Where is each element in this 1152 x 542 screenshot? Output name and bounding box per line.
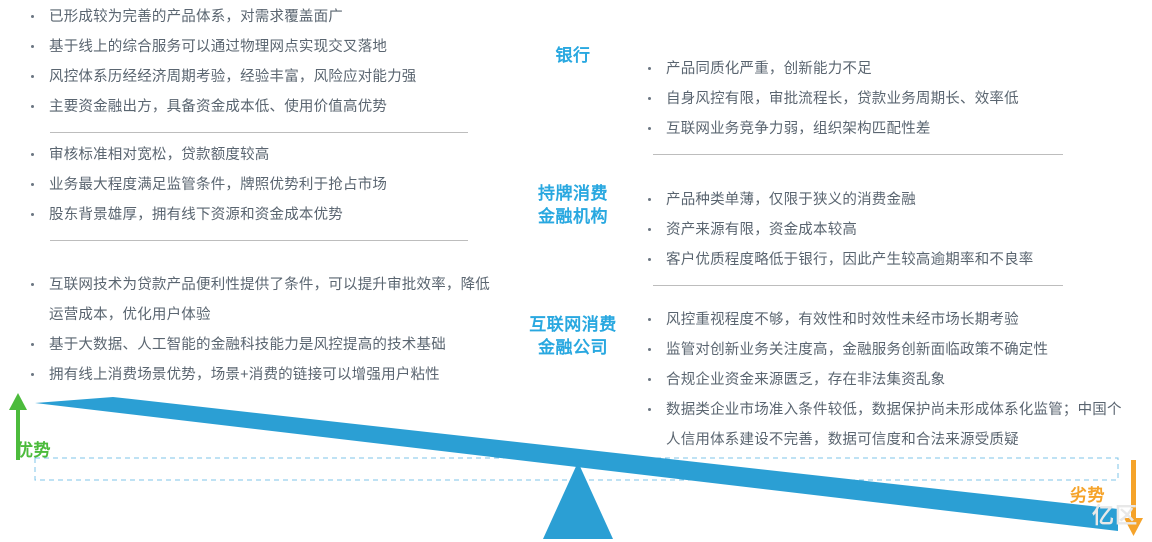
bullet-dot-icon bbox=[648, 127, 651, 130]
category-label-bank: 银行 bbox=[508, 44, 638, 67]
bullet-dot-icon bbox=[31, 15, 34, 18]
disadvantage-list-bank: 产品同质化严重，创新能力不足 自身风控有限，审批流程长，贷款业务周期长、效率低 … bbox=[645, 54, 1115, 144]
bullet-dot-icon bbox=[648, 258, 651, 261]
bullet-dot-icon bbox=[31, 153, 34, 156]
list-item-text: 客户优质程度略低于银行，因此产生较高逾期率和不良率 bbox=[666, 252, 1034, 268]
list-item: 合规企业资金来源匮乏，存在非法集资乱象 bbox=[645, 365, 1115, 395]
list-item-text: 拥有线上消费场景优势，场景+消费的链接可以增强用户粘性 bbox=[49, 367, 440, 383]
category-label-licensed-consumer-finance: 持牌消费 金融机构 bbox=[508, 182, 638, 228]
list-item: 已形成较为完善的产品体系，对需求覆盖面广 bbox=[28, 2, 480, 32]
disadvantage-list-licensed-consumer-finance: 产品种类单薄，仅限于狭义的消费金融 资产来源有限，资金成本较高 客户优质程度略低… bbox=[645, 185, 1115, 275]
disadvantages-block-bank: 产品同质化严重，创新能力不足 自身风控有限，审批流程长，贷款业务周期长、效率低 … bbox=[645, 54, 1115, 155]
list-item-text: 风控体系历经经济周期考验，经验丰富，风险应对能力强 bbox=[49, 69, 417, 85]
list-item-text: 股东背景雄厚，拥有线下资源和资金成本优势 bbox=[49, 207, 343, 223]
list-item: 数据类企业市场准入条件较低，数据保护尚未形成体系化监管；中国个人信用体系建设不完… bbox=[645, 395, 1128, 455]
slide-canvas: 银行 持牌消费 金融机构 互联网消费 金融公司 已形成较为完善的产品体系，对需求… bbox=[0, 0, 1152, 542]
section-divider bbox=[50, 240, 468, 241]
list-item: 股东背景雄厚，拥有线下资源和资金成本优势 bbox=[28, 200, 480, 230]
list-item: 客户优质程度略低于银行，因此产生较高逾期率和不良率 bbox=[645, 245, 1115, 275]
bullet-dot-icon bbox=[648, 378, 651, 381]
advantages-block-internet-consumer-finance: 互联网技术为贷款产品便利性提供了条件，可以提升审批效率，降低运营成本，优化用户体… bbox=[28, 270, 480, 390]
bullet-dot-icon bbox=[31, 373, 34, 376]
bullet-dot-icon bbox=[648, 97, 651, 100]
bullet-dot-icon bbox=[31, 213, 34, 216]
category-label-line1: 互联网消费 bbox=[508, 313, 638, 336]
list-item-text: 数据类企业市场准入条件较低，数据保护尚未形成体系化监管；中国个人信用体系建设不完… bbox=[666, 402, 1122, 448]
dashed-reference-box bbox=[35, 458, 1118, 480]
list-item-text: 资产来源有限，资金成本较高 bbox=[666, 222, 857, 238]
list-item: 业务最大程度满足监管条件，牌照优势利于抢占市场 bbox=[28, 170, 480, 200]
bullet-dot-icon bbox=[648, 198, 651, 201]
bullet-dot-icon bbox=[648, 228, 651, 231]
list-item: 监管对创新业务关注度高，金融服务创新面临政策不确定性 bbox=[645, 335, 1115, 365]
list-item: 资产来源有限，资金成本较高 bbox=[645, 215, 1115, 245]
list-item-text: 自身风控有限，审批流程长，贷款业务周期长、效率低 bbox=[666, 91, 1019, 107]
watermark-text: 亿区 bbox=[1092, 498, 1138, 530]
list-item-text: 审核标准相对宽松，贷款额度较高 bbox=[49, 147, 270, 163]
list-item: 主要资金融出方，具备资金成本低、使用价值高优势 bbox=[28, 92, 480, 122]
disadvantages-block-internet-consumer-finance: 风控重视程度不够，有效性和时效性未经市场长期考验 监管对创新业务关注度高，金融服… bbox=[645, 305, 1115, 455]
list-item: 产品同质化严重，创新能力不足 bbox=[645, 54, 1115, 84]
list-item: 互联网业务竞争力弱，组织架构匹配性差 bbox=[645, 114, 1115, 144]
advantages-block-bank: 已形成较为完善的产品体系，对需求覆盖面广 基于线上的综合服务可以通过物理网点实现… bbox=[28, 2, 480, 133]
list-item: 基于线上的综合服务可以通过物理网点实现交叉落地 bbox=[28, 32, 480, 62]
list-item-text: 基于大数据、人工智能的金融科技能力是风控提高的技术基础 bbox=[49, 337, 446, 353]
section-divider bbox=[653, 154, 1063, 155]
list-item: 互联网技术为贷款产品便利性提供了条件，可以提升审批效率，降低运营成本，优化用户体… bbox=[28, 270, 504, 330]
advantages-block-licensed-consumer-finance: 审核标准相对宽松，贷款额度较高 业务最大程度满足监管条件，牌照优势利于抢占市场 … bbox=[28, 140, 480, 241]
advantage-axis-label: 优势 bbox=[16, 436, 51, 461]
category-label-line2: 金融公司 bbox=[508, 336, 638, 359]
bullet-dot-icon bbox=[31, 183, 34, 186]
bullet-dot-icon bbox=[648, 408, 651, 411]
fulcrum-triangle-icon bbox=[543, 462, 613, 539]
section-divider bbox=[50, 132, 468, 133]
advantage-list-bank: 已形成较为完善的产品体系，对需求覆盖面广 基于线上的综合服务可以通过物理网点实现… bbox=[28, 2, 480, 122]
advantage-list-licensed-consumer-finance: 审核标准相对宽松，贷款额度较高 业务最大程度满足监管条件，牌照优势利于抢占市场 … bbox=[28, 140, 480, 230]
list-item: 产品种类单薄，仅限于狭义的消费金融 bbox=[645, 185, 1115, 215]
bullet-dot-icon bbox=[31, 105, 34, 108]
section-divider bbox=[653, 285, 1063, 286]
category-label-line2: 金融机构 bbox=[508, 205, 638, 228]
disadvantage-list-internet-consumer-finance: 风控重视程度不够，有效性和时效性未经市场长期考验 监管对创新业务关注度高，金融服… bbox=[645, 305, 1115, 455]
list-item-text: 已形成较为完善的产品体系，对需求覆盖面广 bbox=[49, 9, 343, 25]
bullet-dot-icon bbox=[31, 45, 34, 48]
list-item-text: 产品同质化严重，创新能力不足 bbox=[666, 61, 872, 77]
list-item: 拥有线上消费场景优势，场景+消费的链接可以增强用户粘性 bbox=[28, 360, 480, 390]
list-item: 风控重视程度不够，有效性和时效性未经市场长期考验 bbox=[645, 305, 1115, 335]
disadvantages-block-licensed-consumer-finance: 产品种类单薄，仅限于狭义的消费金融 资产来源有限，资金成本较高 客户优质程度略低… bbox=[645, 185, 1115, 286]
bullet-dot-icon bbox=[31, 283, 34, 286]
list-item-text: 产品种类单薄，仅限于狭义的消费金融 bbox=[666, 192, 916, 208]
list-item-text: 主要资金融出方，具备资金成本低、使用价值高优势 bbox=[49, 99, 387, 115]
list-item-text: 风控重视程度不够，有效性和时效性未经市场长期考验 bbox=[666, 312, 1019, 328]
list-item-text: 互联网业务竞争力弱，组织架构匹配性差 bbox=[666, 121, 931, 137]
list-item: 审核标准相对宽松，贷款额度较高 bbox=[28, 140, 480, 170]
list-item: 自身风控有限，审批流程长，贷款业务周期长、效率低 bbox=[645, 84, 1115, 114]
list-item-text: 互联网技术为贷款产品便利性提供了条件，可以提升审批效率，降低运营成本，优化用户体… bbox=[49, 277, 490, 323]
bullet-dot-icon bbox=[648, 67, 651, 70]
bullet-dot-icon bbox=[648, 348, 651, 351]
bullet-dot-icon bbox=[31, 75, 34, 78]
list-item-text: 基于线上的综合服务可以通过物理网点实现交叉落地 bbox=[49, 39, 387, 55]
category-label-bank-text: 银行 bbox=[556, 46, 591, 65]
bullet-dot-icon bbox=[648, 318, 651, 321]
bullet-dot-icon bbox=[31, 343, 34, 346]
list-item-text: 合规企业资金来源匮乏，存在非法集资乱象 bbox=[666, 372, 945, 388]
category-label-internet-consumer-finance: 互联网消费 金融公司 bbox=[508, 313, 638, 359]
list-item: 基于大数据、人工智能的金融科技能力是风控提高的技术基础 bbox=[28, 330, 480, 360]
list-item-text: 监管对创新业务关注度高，金融服务创新面临政策不确定性 bbox=[666, 342, 1048, 358]
list-item: 风控体系历经经济周期考验，经验丰富，风险应对能力强 bbox=[28, 62, 480, 92]
advantage-list-internet-consumer-finance: 互联网技术为贷款产品便利性提供了条件，可以提升审批效率，降低运营成本，优化用户体… bbox=[28, 270, 480, 390]
category-label-line1: 持牌消费 bbox=[508, 182, 638, 205]
list-item-text: 业务最大程度满足监管条件，牌照优势利于抢占市场 bbox=[49, 177, 387, 193]
